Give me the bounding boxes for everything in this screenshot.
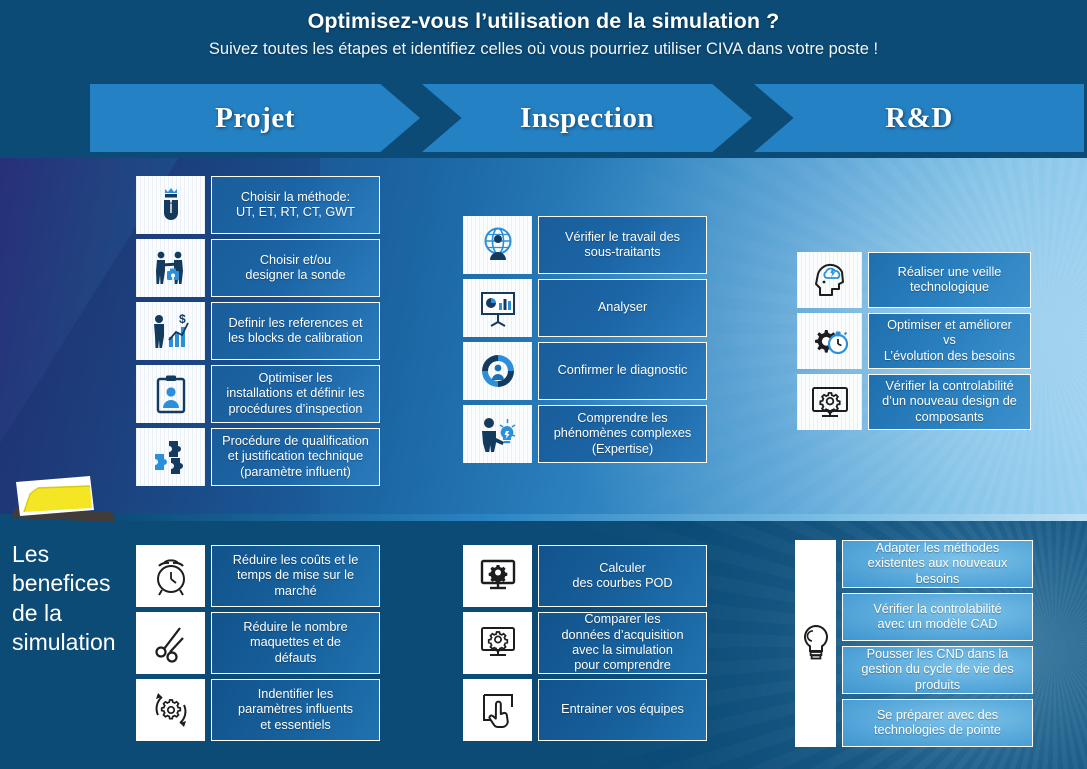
stage-arrow-projet[interactable]: Projet — [90, 84, 420, 152]
infographic-page: Optimisez-vous l’utilisation de la simul… — [0, 0, 1087, 769]
list-item-label[interactable]: Adapter les méthodesexistentes aux nouve… — [842, 540, 1033, 588]
alarm-clock-icon — [136, 545, 205, 607]
gear-refresh-icon — [136, 679, 205, 741]
page-subtitle: Suivez toutes les étapes et identifiez c… — [0, 40, 1087, 59]
list-item[interactable]: Réduire les coûts et letemps de mise sur… — [136, 545, 380, 607]
benefits-title-line: de la — [12, 599, 132, 628]
person-chart-dollar-icon: $ — [136, 302, 205, 360]
list-item-label: Réaliser une veilletechnologique — [868, 252, 1031, 308]
column-rd-top: Réaliser une veilletechnologique Optimis… — [797, 252, 1031, 430]
lightbulb-icon — [795, 540, 836, 747]
list-item-label: Indentifier lesparamètres influentset es… — [211, 679, 380, 741]
list-item[interactable]: Optimiser et améliorervsL’évolution des … — [797, 313, 1031, 369]
list-item[interactable]: Optimiser lesinstallations et définir le… — [136, 365, 380, 423]
globe-person-icon — [463, 216, 532, 274]
clipboard-person-icon — [136, 365, 205, 423]
svg-text:$: $ — [179, 312, 186, 326]
list-item[interactable]: Entrainer vos équipes — [463, 679, 707, 741]
list-item[interactable]: Comprendre lesphénomènes complexes(Exper… — [463, 405, 707, 463]
list-item-label: Comprendre lesphénomènes complexes(Exper… — [538, 405, 707, 463]
benefits-title-line: simulation — [12, 628, 132, 657]
sticky-note-decoration — [8, 472, 120, 524]
puzzle-pieces-icon — [136, 428, 205, 486]
stage-arrow-label: R&D — [885, 102, 953, 135]
list-item[interactable]: Comparer lesdonnées d’acquisitionavec la… — [463, 612, 707, 674]
stage-arrow-label: Inspection — [520, 102, 654, 135]
column-rd-bottom: Adapter les méthodesexistentes aux nouve… — [795, 540, 1033, 747]
list-item-label: Comparer lesdonnées d’acquisitionavec la… — [538, 612, 707, 674]
stage-banner: Projet Inspection R&D — [0, 80, 1087, 156]
list-item[interactable]: Réaliser une veilletechnologique — [797, 252, 1031, 308]
stage-arrow-label: Projet — [215, 102, 295, 135]
monitor-gear-solid-icon — [463, 545, 532, 607]
list-item-label: Calculerdes courbes POD — [538, 545, 707, 607]
list-item-label: Optimiser et améliorervsL’évolution des … — [868, 313, 1031, 369]
list-item-label[interactable]: Pousser les CND dans lagestion du cycle … — [842, 646, 1033, 694]
list-item-label: Confirmer le diagnostic — [538, 342, 707, 400]
header: Optimisez-vous l’utilisation de la simul… — [0, 0, 1087, 78]
stage-arrow-inspection[interactable]: Inspection — [422, 84, 752, 152]
column-inspection-bottom: Calculerdes courbes POD Comparer lesdonn… — [463, 545, 707, 741]
page-title: Optimisez-vous l’utilisation de la simul… — [0, 9, 1087, 34]
list-item-label: Réduire le nombremaquettes et dedéfauts — [211, 612, 380, 674]
list-item[interactable]: Procédure de qualificationet justificati… — [136, 428, 380, 486]
benefits-title: Les benefices de la simulation — [12, 540, 132, 658]
list-item-label: Definir les references etles blocks de c… — [211, 302, 380, 360]
monitor-gear-icon — [797, 374, 862, 430]
list-item[interactable]: Calculerdes courbes POD — [463, 545, 707, 607]
scissors-icon — [136, 612, 205, 674]
list-item[interactable]: Confirmer le diagnostic — [463, 342, 707, 400]
column-inspection-top: Vérifier le travail dessous-traitants An… — [463, 216, 707, 463]
benefits-title-line: benefices — [12, 569, 132, 598]
list-item-label[interactable]: Vérifier la controlabilitéavec un modèle… — [842, 593, 1033, 641]
list-item[interactable]: Choisir et/oudesigner la sonde — [136, 239, 380, 297]
list-item-label: Optimiser lesinstallations et définir le… — [211, 365, 380, 423]
list-item-label: Vérifier le travail dessous-traitants — [538, 216, 707, 274]
monitor-gear-outline-icon — [463, 612, 532, 674]
list-item[interactable]: Choisir la méthode:UT, ET, RT, CT, GWT — [136, 176, 380, 234]
manager-crown-icon — [136, 176, 205, 234]
list-item-label: Vérifier la controlabilitéd’un nouveau d… — [868, 374, 1031, 430]
presentation-chart-icon — [463, 279, 532, 337]
handshake-probe-icon — [136, 239, 205, 297]
person-lightbulb-icon — [463, 405, 532, 463]
list-item[interactable]: Vérifier le travail dessous-traitants — [463, 216, 707, 274]
list-item-label: Analyser — [538, 279, 707, 337]
list-item-label: Choisir la méthode:UT, ET, RT, CT, GWT — [211, 176, 380, 234]
person-circle-target-icon — [463, 342, 532, 400]
stage-arrow-rd[interactable]: R&D — [754, 84, 1084, 152]
gear-stopwatch-icon — [797, 313, 862, 369]
column-projet-top: Choisir la méthode:UT, ET, RT, CT, GWT C… — [136, 176, 380, 486]
list-item-label[interactable]: Se préparer avec destechnologies de poin… — [842, 699, 1033, 747]
list-item[interactable]: Vérifier la controlabilitéd’un nouveau d… — [797, 374, 1031, 430]
column-projet-bottom: Réduire les coûts et letemps de mise sur… — [136, 545, 380, 741]
list-item[interactable]: Réduire le nombremaquettes et dedéfauts — [136, 612, 380, 674]
list-item[interactable]: Indentifier lesparamètres influentset es… — [136, 679, 380, 741]
hand-touch-screen-icon — [463, 679, 532, 741]
list-item-label: Procédure de qualificationet justificati… — [211, 428, 380, 486]
list-item[interactable]: $ Definir les references etles blocks de… — [136, 302, 380, 360]
list-item-label: Entrainer vos équipes — [538, 679, 707, 741]
list-item[interactable]: Analyser — [463, 279, 707, 337]
benefits-title-line: Les — [12, 540, 132, 569]
list-item-label: Choisir et/oudesigner la sonde — [211, 239, 380, 297]
list-item-label: Réduire les coûts et letemps de mise sur… — [211, 545, 380, 607]
band-divider — [0, 514, 1087, 521]
head-cloud-idea-icon — [797, 252, 862, 308]
